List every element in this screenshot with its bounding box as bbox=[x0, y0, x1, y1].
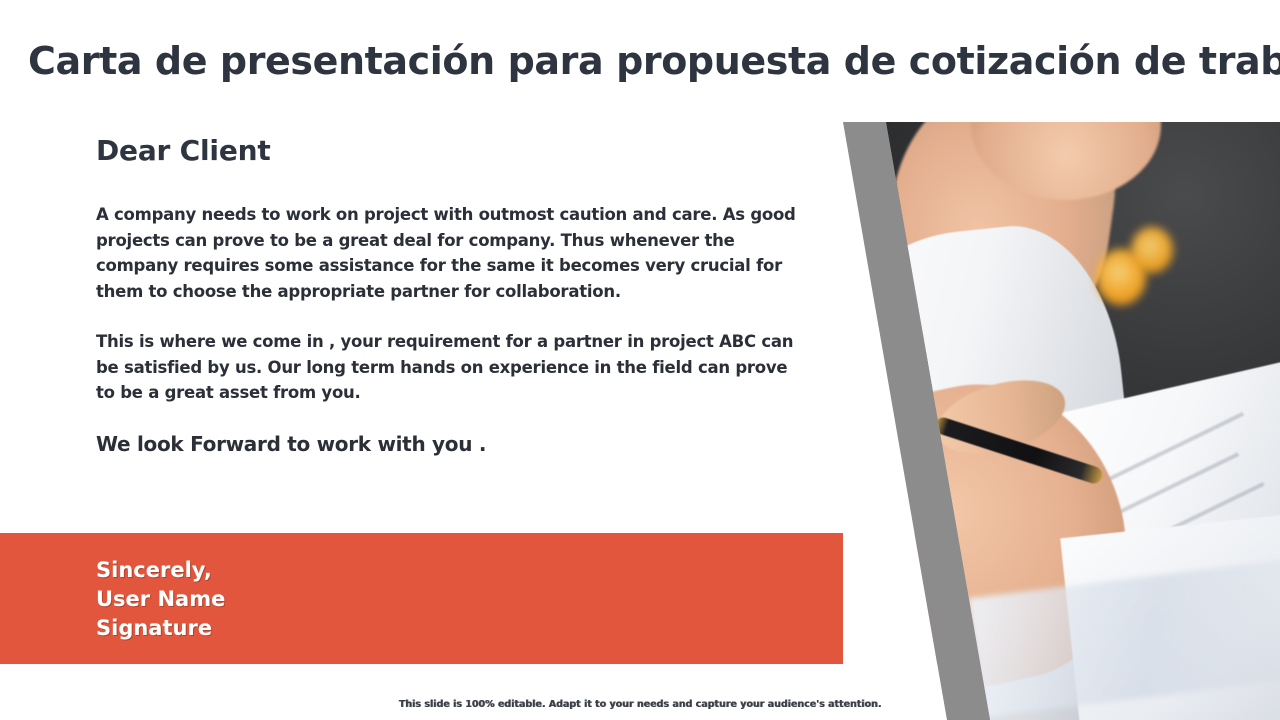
salutation: Dear Client bbox=[96, 134, 806, 168]
letter-body: Dear Client A company needs to work on p… bbox=[96, 134, 806, 458]
body-paragraph-2: This is where we come in , your requirem… bbox=[96, 329, 806, 406]
slide-canvas: Carta de presentación para propuesta de … bbox=[0, 0, 1280, 720]
signature-block: Sincerely, User Name Signature bbox=[96, 556, 225, 643]
footer-note: This slide is 100% editable. Adapt it to… bbox=[0, 698, 1280, 712]
bokeh-light-icon bbox=[1131, 227, 1173, 273]
hero-image-region bbox=[843, 122, 1280, 720]
signature-line-3: Signature bbox=[96, 614, 225, 643]
signature-line-2: User Name bbox=[96, 585, 225, 614]
signature-line-1: Sincerely, bbox=[96, 556, 225, 585]
closing-line: We look Forward to work with you . bbox=[96, 431, 806, 458]
page-title: Carta de presentación para propuesta de … bbox=[28, 38, 1248, 84]
body-paragraph-1: A company needs to work on project with … bbox=[96, 202, 806, 304]
